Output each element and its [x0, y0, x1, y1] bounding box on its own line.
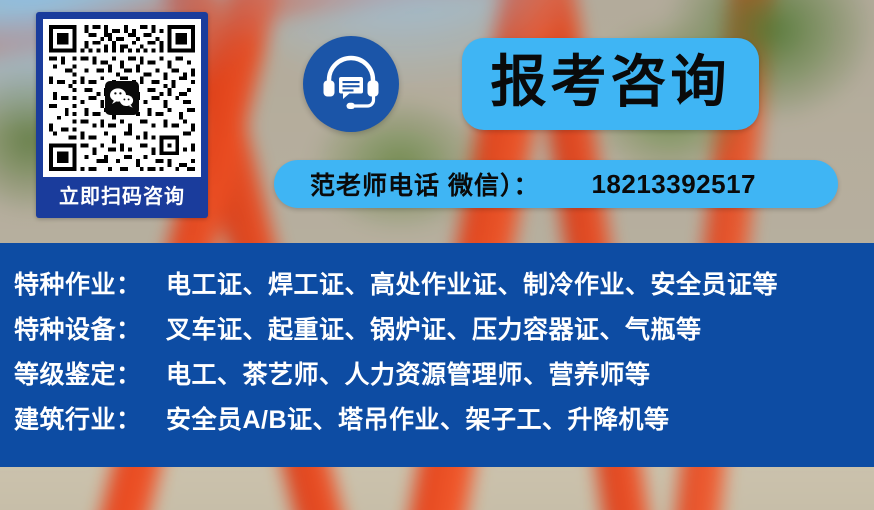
title-text: 报考咨询	[491, 54, 731, 110]
service-row: 建筑行业： 安全员A/B证、塔吊作业、架子工、升降机等	[14, 400, 874, 445]
service-category-label: 建筑行业：	[14, 400, 166, 436]
wechat-logo-glyph	[109, 87, 135, 109]
contact-pill[interactable]: 范老师电话 微信）： 18213392517	[274, 160, 838, 208]
service-category-label: 特种作业：	[14, 265, 166, 301]
title-pill-enrollment-consult[interactable]: 报考咨询	[462, 38, 759, 130]
service-row: 等级鉴定： 电工、茶艺师、人力资源管理师、营养师等	[14, 355, 874, 400]
wechat-logo	[105, 81, 139, 115]
contact-label: 范老师电话 微信）：	[310, 166, 539, 202]
service-items-list: 叉车证、起重证、锅炉证、压力容器证、气瓶等	[166, 310, 702, 346]
service-items-list: 电工、茶艺师、人力资源管理师、营养师等	[166, 355, 651, 391]
headset-support-badge[interactable]	[303, 36, 399, 132]
service-row: 特种作业： 电工证、焊工证、高处作业证、制冷作业、安全员证等	[14, 265, 874, 310]
contact-phone-number[interactable]: 18213392517	[591, 169, 756, 200]
services-panel: 特种作业： 电工证、焊工证、高处作业证、制冷作业、安全员证等 特种设备： 叉车证…	[0, 243, 874, 467]
promo-poster: 立即扫码咨询 报考咨询 范老师电话 微信）： 18213392517	[0, 0, 874, 510]
service-category-label: 等级鉴定：	[14, 355, 166, 391]
headset-support-icon	[321, 55, 381, 113]
qr-caption: 立即扫码咨询	[59, 177, 185, 218]
qr-code-image[interactable]	[43, 19, 201, 177]
service-items-list: 安全员A/B证、塔吊作业、架子工、升降机等	[166, 400, 670, 436]
service-category-label: 特种设备：	[14, 310, 166, 346]
service-row: 特种设备： 叉车证、起重证、锅炉证、压力容器证、气瓶等	[14, 310, 874, 355]
qr-code-card[interactable]: 立即扫码咨询	[36, 12, 208, 218]
service-items-list: 电工证、焊工证、高处作业证、制冷作业、安全员证等	[166, 265, 778, 301]
